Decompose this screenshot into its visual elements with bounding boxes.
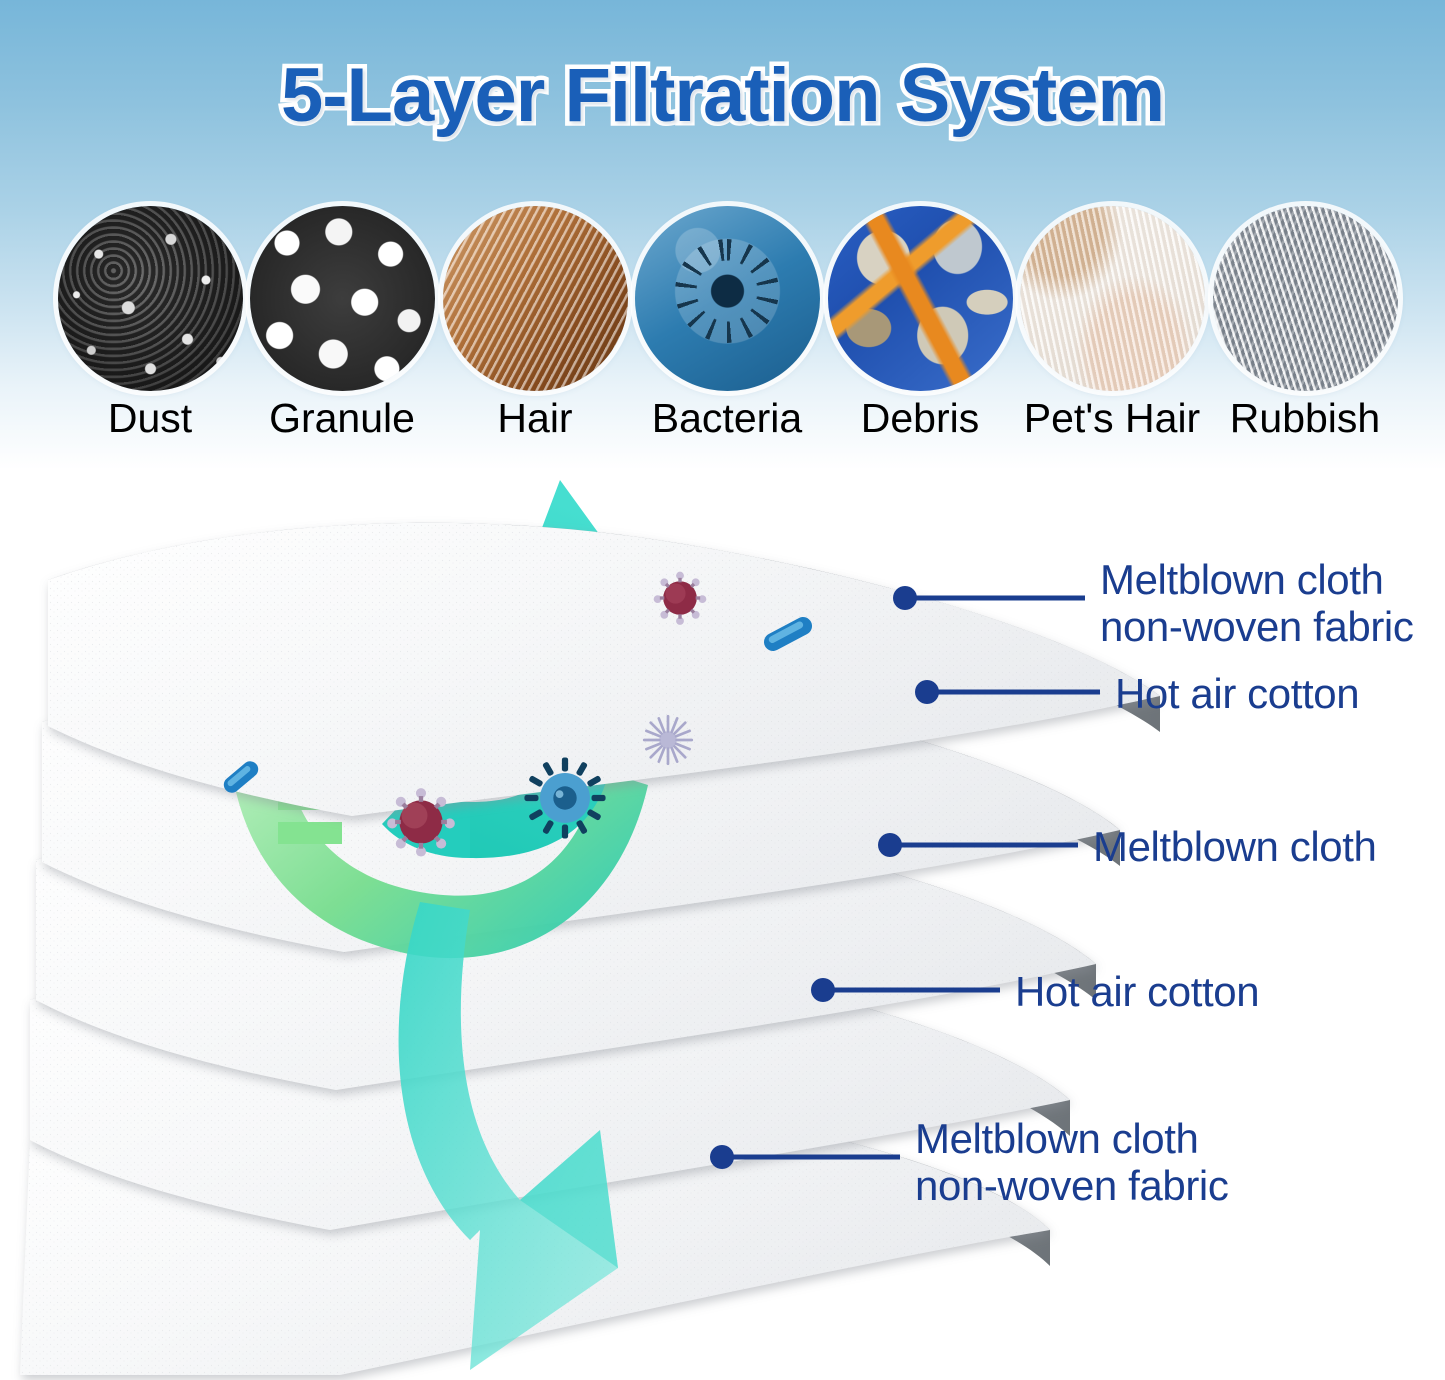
contaminant-icon-row: Dust Granule Hair Bacteria Debris Pet's … — [0, 206, 1445, 436]
hair-swatch-icon — [443, 206, 628, 391]
contaminant-item-rubbish: Rubbish — [1210, 206, 1400, 440]
layer-label-1: Meltblown cloth non-woven fabric — [1100, 556, 1413, 650]
contaminant-item-pets-hair: Pet's Hair — [1017, 206, 1207, 440]
contaminant-label: Bacteria — [632, 397, 822, 440]
contaminant-label: Hair — [440, 397, 630, 440]
layer-label-4: Hot air cotton — [1015, 968, 1259, 1015]
page-title: 5-Layer Filtration System — [0, 52, 1445, 139]
maroon-virus-particle — [654, 572, 707, 625]
pet-hair-swatch-icon — [1020, 206, 1205, 391]
debris-swatch-icon — [828, 206, 1013, 391]
contaminant-label: Rubbish — [1210, 397, 1400, 440]
contaminant-item-dust: Dust — [55, 206, 245, 440]
contaminant-label: Dust — [55, 397, 245, 440]
contaminant-label: Granule — [247, 397, 437, 440]
bacteria-swatch-icon — [635, 206, 820, 391]
layer-label-5: Meltblown cloth non-woven fabric — [915, 1115, 1228, 1209]
violet-pollen-particle — [644, 716, 692, 764]
contaminant-label: Debris — [825, 397, 1015, 440]
granule-swatch-icon — [250, 206, 435, 391]
contaminant-item-granule: Granule — [247, 206, 437, 440]
layer-label-3: Meltblown cloth — [1093, 823, 1376, 870]
rubbish-swatch-icon — [1213, 206, 1398, 391]
contaminant-item-hair: Hair — [440, 206, 630, 440]
contaminant-item-debris: Debris — [825, 206, 1015, 440]
dust-swatch-icon — [58, 206, 243, 391]
contaminant-label: Pet's Hair — [1017, 397, 1207, 440]
maroon-virus-particle — [387, 788, 455, 856]
contaminant-item-bacteria: Bacteria — [632, 206, 822, 440]
layer-label-2: Hot air cotton — [1115, 670, 1359, 717]
infographic-page: 5-Layer Filtration System Dust Granule H… — [0, 0, 1445, 1380]
layer-stack-diagram: Meltblown cloth non-woven fabric Hot air… — [0, 440, 1445, 1380]
